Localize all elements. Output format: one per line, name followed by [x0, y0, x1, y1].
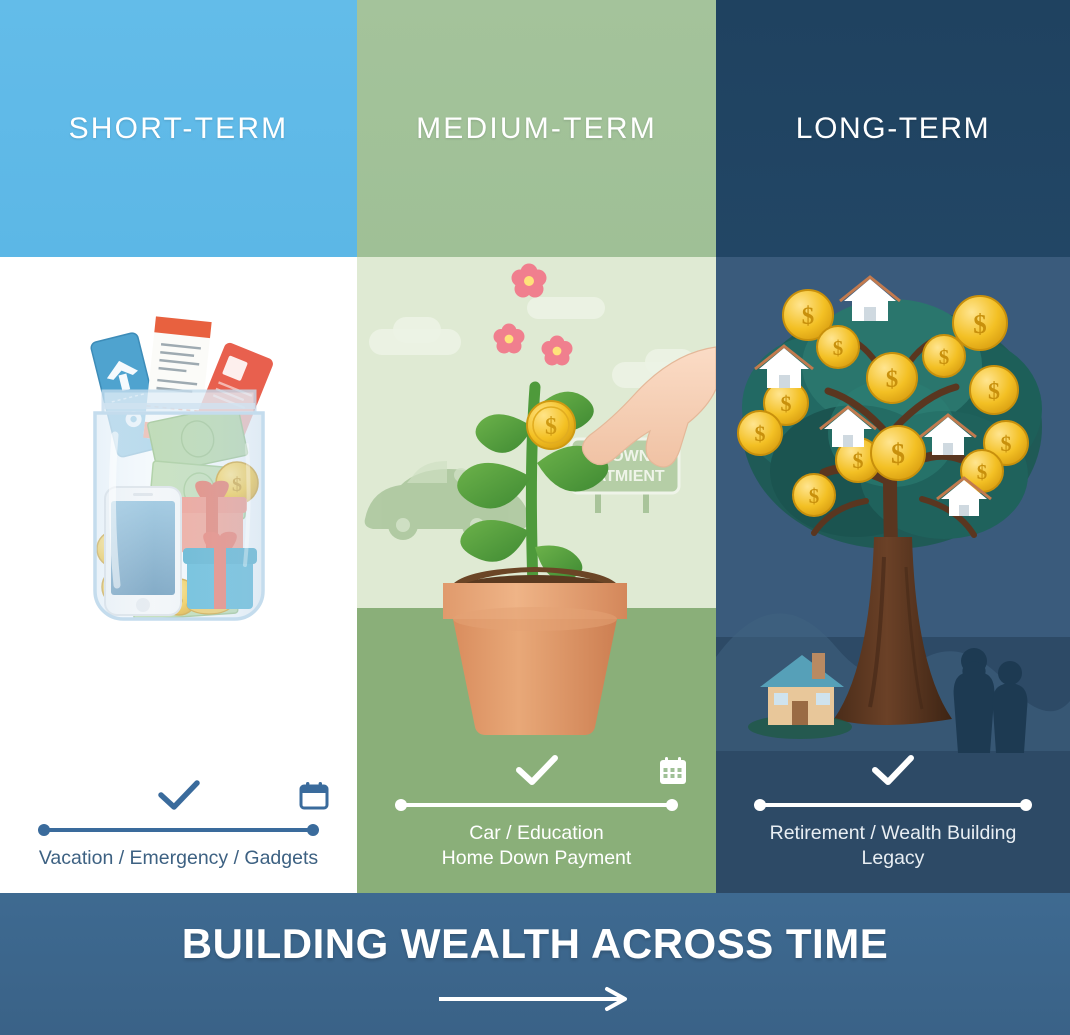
infographic-page: SHORT-TERM: [0, 0, 1070, 1035]
body-medium-term: DOWN PATMIENT: [357, 257, 716, 893]
header-long-term: LONG-TERM: [716, 0, 1070, 257]
timeline-bar-short-term: [38, 823, 319, 837]
header-title-long-term: LONG-TERM: [796, 112, 990, 146]
goal-block-medium-term: Car / Education Home Down Payment: [357, 752, 716, 871]
goal-line: Car / Education: [357, 821, 716, 846]
flower-pot: [443, 567, 627, 735]
timeline-bar-long-term: [754, 798, 1032, 812]
goal-text-medium-term: Car / Education Home Down Payment: [357, 821, 716, 871]
right-arrow-icon: [435, 986, 635, 1017]
icon-row-short-term: [0, 777, 357, 823]
goal-line: Home Down Payment: [357, 846, 716, 871]
tree-trunk: [834, 537, 952, 725]
body-long-term: $ $ $ $ $ $ $ $ $ $ $ $ $: [716, 257, 1070, 893]
timeline-line: [44, 828, 313, 832]
bottom-banner: BUILDING WEALTH ACROSS TIME: [0, 893, 1070, 1035]
banner-title: BUILDING WEALTH ACROSS TIME: [182, 920, 888, 968]
hand: [582, 347, 716, 467]
pink-flowers: [494, 264, 573, 366]
timeline-line: [401, 803, 672, 807]
svg-text:$: $: [939, 345, 950, 369]
calendar-icon: [299, 781, 329, 816]
columns-container: SHORT-TERM: [0, 0, 1070, 893]
couple-silhouette: [954, 648, 1028, 753]
goal-text-long-term: Retirement / Wealth Building Legacy: [716, 821, 1070, 871]
goal-block-long-term: Retirement / Wealth Building Legacy: [716, 752, 1070, 871]
goal-line: Vacation / Emergency / Gadgets: [0, 846, 357, 871]
svg-text:$: $: [977, 460, 988, 484]
svg-text:$: $: [809, 484, 820, 508]
glass-jar: [95, 391, 263, 619]
svg-text:$: $: [891, 439, 905, 470]
column-short-term[interactable]: SHORT-TERM: [0, 0, 357, 893]
timeline-dot-end: [666, 799, 678, 811]
gold-coin: $: [527, 401, 575, 449]
goal-block-short-term: Vacation / Emergency / Gadgets: [0, 777, 357, 871]
timeline-bar-medium-term: [395, 798, 678, 812]
svg-text:$: $: [755, 421, 766, 446]
goal-text-short-term: Vacation / Emergency / Gadgets: [0, 846, 357, 871]
svg-text:$: $: [1001, 431, 1012, 456]
header-medium-term: MEDIUM-TERM: [357, 0, 716, 257]
goal-line: Retirement / Wealth Building: [716, 821, 1070, 846]
goal-line: Legacy: [716, 846, 1070, 871]
svg-text:$: $: [545, 414, 557, 440]
body-short-term: $ $ $ $: [0, 257, 357, 893]
svg-text:$: $: [853, 448, 864, 473]
check-icon: [871, 754, 915, 793]
svg-text:$: $: [833, 336, 844, 360]
check-icon: [515, 754, 559, 793]
header-title-short-term: SHORT-TERM: [69, 112, 289, 146]
header-title-medium-term: MEDIUM-TERM: [416, 112, 657, 146]
header-short-term: SHORT-TERM: [0, 0, 357, 257]
timeline-dot-end: [1020, 799, 1032, 811]
check-icon: [157, 779, 201, 818]
svg-text:$: $: [988, 379, 1000, 405]
svg-text:$: $: [886, 366, 899, 393]
svg-text:$: $: [781, 391, 792, 416]
svg-text:$: $: [973, 309, 987, 339]
column-long-term[interactable]: LONG-TERM: [716, 0, 1070, 893]
timeline-dot-end: [307, 824, 319, 836]
icon-row-long-term: [716, 752, 1070, 798]
svg-text:$: $: [802, 303, 815, 330]
savings-jar-illustration: $ $ $ $: [59, 305, 299, 650]
calendar-grid-icon: [658, 756, 688, 791]
timeline-line: [760, 803, 1026, 807]
icon-row-medium-term: [357, 752, 716, 798]
column-medium-term[interactable]: MEDIUM-TERM: [357, 0, 716, 893]
